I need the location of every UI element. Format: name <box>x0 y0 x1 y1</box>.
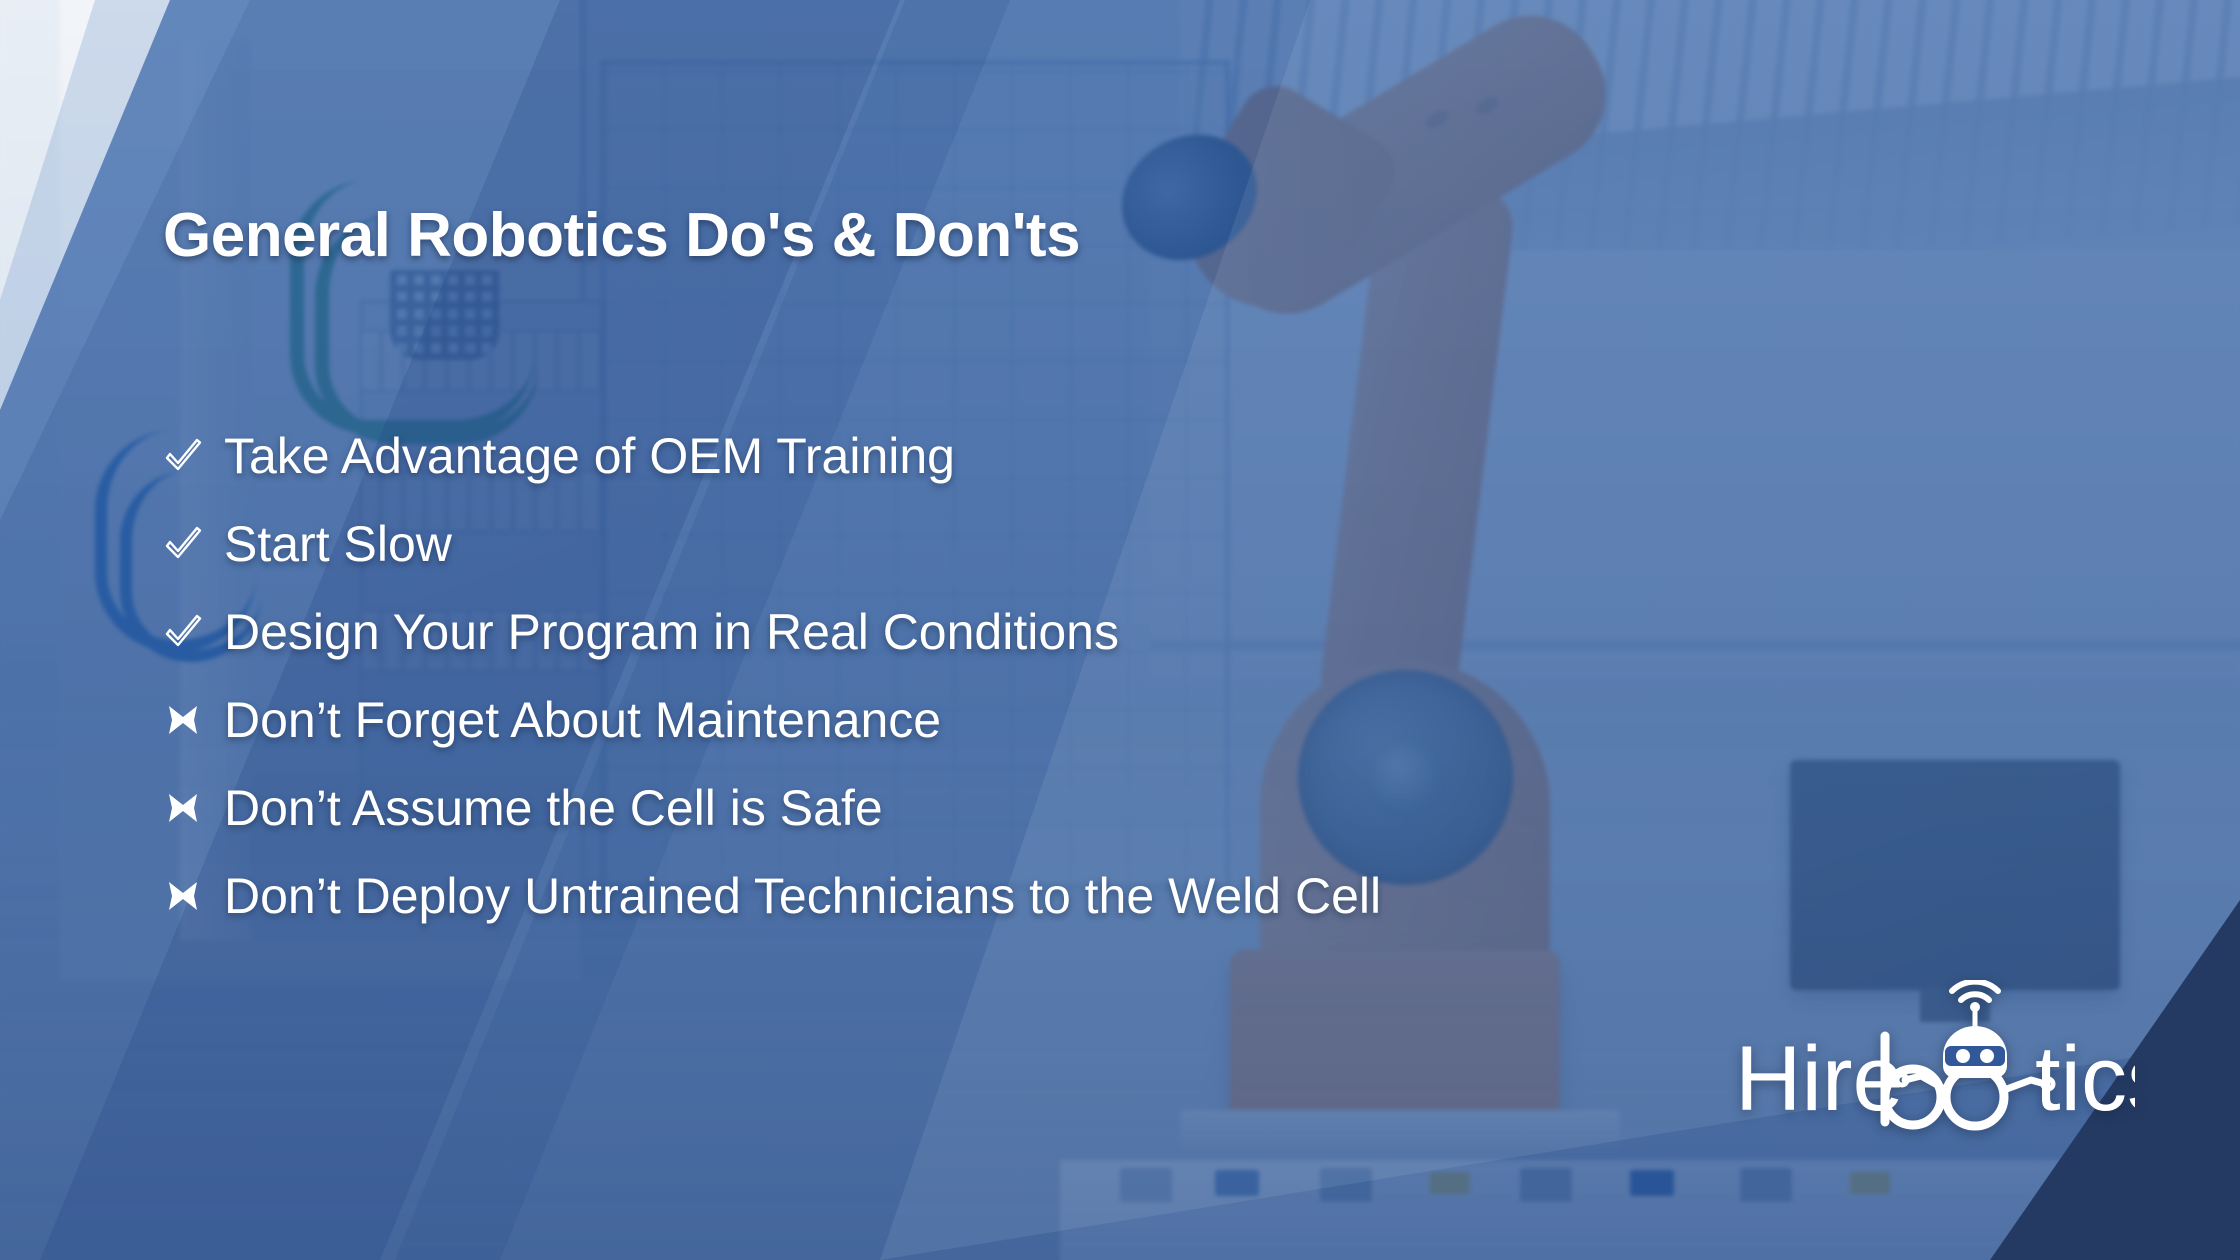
list-item: Take Advantage of OEM Training <box>160 415 1381 497</box>
check-outline-icon <box>160 434 206 478</box>
presentation-slide: General Robotics Do's & Don'ts Take Adva… <box>0 0 2240 1260</box>
list-item-label: Design Your Program in Real Conditions <box>224 603 1119 661</box>
cross-icon <box>160 874 206 918</box>
list-item-label: Take Advantage of OEM Training <box>224 427 955 485</box>
hirebotics-logo: Hire <box>1735 980 2135 1140</box>
list-item-label: Start Slow <box>224 515 452 573</box>
list-item-label: Don’t Forget About Maintenance <box>224 691 941 749</box>
list-item: Don’t Assume the Cell is Safe <box>160 767 1381 849</box>
list-item: Start Slow <box>160 503 1381 585</box>
list-item: Design Your Program in Real Conditions <box>160 591 1381 673</box>
cross-icon <box>160 786 206 830</box>
dos-and-donts-list: Take Advantage of OEM Training Start Slo… <box>160 415 1381 937</box>
check-outline-icon <box>160 610 206 654</box>
hirebotics-logo-mark: Hire <box>1735 980 2135 1140</box>
list-item-label: Don’t Deploy Untrained Technicians to th… <box>224 867 1381 925</box>
list-item: Don’t Forget About Maintenance <box>160 679 1381 761</box>
list-item: Don’t Deploy Untrained Technicians to th… <box>160 855 1381 937</box>
logo-text-after: tics <box>2035 1028 2135 1130</box>
slide-title: General Robotics Do's & Don'ts <box>163 200 1080 271</box>
logo-text-before: Hire <box>1735 1028 1904 1130</box>
cross-icon <box>160 698 206 742</box>
check-outline-icon <box>160 522 206 566</box>
list-item-label: Don’t Assume the Cell is Safe <box>224 779 883 837</box>
slide-content: General Robotics Do's & Don'ts Take Adva… <box>0 0 2240 1260</box>
